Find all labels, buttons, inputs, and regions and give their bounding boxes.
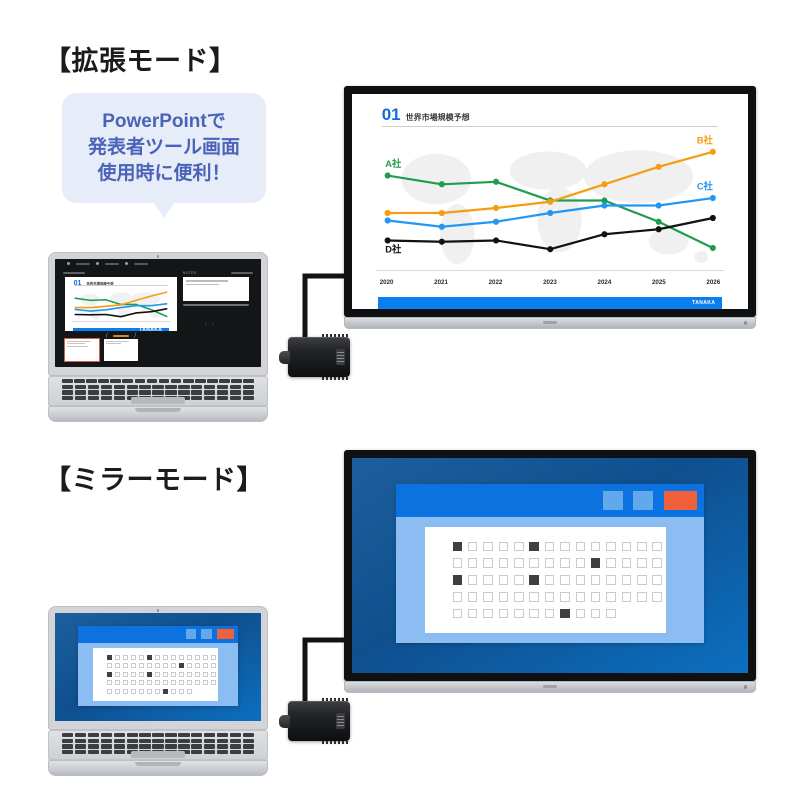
keyboard-key[interactable] [74, 379, 85, 383]
laptop-screen-mirror [55, 613, 261, 721]
cell-empty [591, 542, 600, 551]
monitor-notch [543, 321, 557, 324]
cell-empty [155, 680, 160, 685]
keyboard-key[interactable] [139, 733, 150, 737]
thumb-line [67, 341, 91, 342]
callout-line-2: 発表者ツール画面 [88, 136, 240, 160]
cell-filled [107, 655, 112, 660]
line-chart-svg-mini [72, 287, 170, 323]
laptop-keyboard[interactable] [48, 730, 268, 760]
keyboard-key[interactable] [159, 379, 170, 383]
keyboard-key[interactable] [86, 379, 97, 383]
keyboard-key[interactable] [230, 739, 241, 743]
keyboard-key[interactable] [191, 390, 202, 394]
keyboard-key[interactable] [204, 733, 215, 737]
keyboard-key[interactable] [231, 379, 242, 383]
keyboard-key[interactable] [62, 744, 73, 748]
keyboard-key[interactable] [217, 750, 228, 754]
cell-empty [529, 592, 538, 601]
keyboard-key[interactable] [243, 385, 254, 389]
keyboard-key[interactable] [88, 385, 99, 389]
slide-title: 世界市場規模予想 [406, 112, 470, 123]
keyboard-key[interactable] [101, 385, 112, 389]
keyboard-key[interactable] [62, 739, 73, 743]
cell-filled [453, 575, 462, 584]
keyboard-key[interactable] [75, 739, 86, 743]
usb-c-connector [279, 351, 290, 364]
cell-empty [606, 575, 615, 584]
data-point-A社-2026 [166, 315, 167, 316]
keyboard-key[interactable] [230, 396, 241, 400]
data-point-B社-2022 [105, 305, 106, 306]
mirror-mode-heading: 【ミラーモード】 [44, 458, 264, 497]
note-line [186, 280, 228, 281]
keyboard-key[interactable] [101, 396, 112, 400]
application-window[interactable] [78, 626, 239, 706]
cell-empty [576, 575, 585, 584]
laptop-keyboard[interactable] [48, 376, 268, 406]
keyboard-key[interactable] [204, 385, 215, 389]
cell-empty [468, 558, 477, 567]
keyboard-key[interactable] [62, 750, 73, 754]
keyboard-key[interactable] [195, 379, 206, 383]
adapter-port-teeth-top [322, 698, 348, 701]
data-point-D社-2025 [655, 226, 661, 232]
cell-empty [203, 672, 208, 677]
cell-empty [453, 592, 462, 601]
slide-brand: TANAKA [692, 300, 715, 306]
chart-plot-area-mini [72, 287, 170, 323]
cell-empty [195, 663, 200, 668]
keyboard-key[interactable] [101, 390, 112, 394]
keyboard-key[interactable] [183, 379, 194, 383]
keyboard-key[interactable] [204, 744, 215, 748]
cell-empty [545, 558, 554, 567]
cell-empty [622, 558, 631, 567]
keyboard-key[interactable] [139, 744, 150, 748]
keyboard-key[interactable] [217, 385, 228, 389]
cell-empty [139, 689, 144, 694]
keyboard-key[interactable] [75, 750, 86, 754]
keyboard-key[interactable] [98, 379, 109, 383]
keyboard-key[interactable] [191, 733, 202, 737]
keyboard-key[interactable] [139, 385, 150, 389]
cell-empty [187, 655, 192, 660]
minimize-button-icon[interactable] [186, 629, 196, 639]
cell-filled [453, 542, 462, 551]
cell-empty [187, 680, 192, 685]
cell-empty [499, 609, 508, 618]
cell-empty [163, 672, 168, 677]
presenter-slide-thumbnails[interactable] [65, 339, 138, 361]
cell-empty [163, 663, 168, 668]
keyboard-key[interactable] [75, 744, 86, 748]
keyboard-key[interactable] [230, 744, 241, 748]
cell-empty [155, 672, 160, 677]
cell-empty [123, 672, 128, 677]
cell-empty [179, 655, 184, 660]
maximize-button-icon[interactable] [633, 491, 653, 510]
keyboard-key[interactable] [217, 396, 228, 400]
grille-line [337, 725, 343, 726]
monitor-stand-foot [344, 681, 756, 693]
keyboard-key[interactable] [147, 379, 158, 383]
keyboard-key[interactable] [62, 379, 73, 383]
presenter-subbar[interactable] [63, 271, 253, 275]
cell-filled [529, 542, 538, 551]
slide-thumbnail-1[interactable] [65, 339, 99, 361]
grille-line [337, 722, 343, 723]
keyboard-key[interactable] [165, 390, 176, 394]
keyboard-key[interactable] [75, 385, 86, 389]
document-row [107, 689, 203, 694]
presenter-toolbar[interactable] [55, 259, 261, 269]
cell-empty [187, 672, 192, 677]
data-point-B社-2021 [439, 209, 445, 215]
cell-empty [131, 663, 136, 668]
document-row [107, 663, 203, 668]
monitor-screen-mirror [352, 458, 748, 673]
data-point-B社-2023 [547, 198, 553, 204]
keyboard-key[interactable] [191, 385, 202, 389]
series-label-A社: A社 [385, 158, 402, 170]
callout-bubble: PowerPointで 発表者ツール画面 使用時に便利！ [62, 93, 266, 203]
data-point-C社-2022 [493, 218, 499, 224]
cell-empty [195, 655, 200, 660]
keyboard-key[interactable] [243, 390, 254, 394]
keyboard-key[interactable] [230, 733, 241, 737]
keyboard-key[interactable] [122, 379, 133, 383]
keyboard-key[interactable] [165, 385, 176, 389]
keyboard-key[interactable] [88, 744, 99, 748]
cell-empty [637, 542, 646, 551]
adapter-body [288, 701, 350, 741]
cell-empty [652, 558, 661, 567]
monitor-bezel [344, 450, 756, 681]
cell-empty [139, 655, 144, 660]
keyboard-key[interactable] [88, 396, 99, 400]
data-point-D社-2020 [75, 314, 76, 315]
adapter-port-teeth-top [322, 334, 348, 337]
keyboard-key[interactable] [243, 744, 254, 748]
keyboard-key[interactable] [152, 744, 163, 748]
keyboard-key[interactable] [152, 733, 163, 737]
laptop-extend-mode: 01 世界市場規模予想 [48, 252, 268, 422]
cell-empty [576, 592, 585, 601]
cell-filled [560, 609, 569, 618]
cell-empty [155, 655, 160, 660]
keyboard-key[interactable] [204, 390, 215, 394]
maximize-button-icon[interactable] [201, 629, 211, 639]
keyboard-key[interactable] [230, 385, 241, 389]
cell-empty [147, 680, 152, 685]
cell-empty [652, 592, 661, 601]
usb-c-adapter-extend [288, 337, 350, 377]
cell-empty [115, 680, 120, 685]
minimize-button-icon[interactable] [603, 491, 623, 510]
cell-empty [163, 680, 168, 685]
cell-empty [576, 609, 585, 618]
cell-empty [187, 689, 192, 694]
keyboard-key[interactable] [75, 390, 86, 394]
keyboard-key[interactable] [114, 739, 125, 743]
cell-empty [139, 663, 144, 668]
monitor-bezel: 01 世界市場規模予想 [344, 86, 756, 317]
data-point-A社-2020 [384, 172, 390, 178]
chart-x-axis-labels: 2020202120222023202420252026 [376, 279, 724, 286]
window-title-bar[interactable] [396, 484, 705, 517]
cell-empty [195, 672, 200, 677]
keyboard-key[interactable] [178, 733, 189, 737]
cell-empty [545, 592, 554, 601]
x-tick-2022: 2022 [489, 279, 503, 286]
keyboard-key[interactable] [178, 385, 189, 389]
data-point-C社-2026 [710, 194, 716, 200]
cell-empty [591, 592, 600, 601]
document-row [453, 609, 639, 618]
data-point-B社-2020 [384, 209, 390, 215]
data-point-D社-2022 [105, 314, 106, 315]
keyboard-key[interactable] [127, 385, 138, 389]
presenter-notes-heading: NOTES [183, 271, 197, 275]
keyboard-key[interactable] [243, 396, 254, 400]
cell-empty [622, 542, 631, 551]
keyboard-key[interactable] [171, 379, 182, 383]
chart-plot-area: A社B社C社D社 [376, 131, 724, 275]
cell-empty [123, 663, 128, 668]
cell-empty [591, 609, 600, 618]
cell-empty [468, 609, 477, 618]
slide-number: 01 [382, 106, 401, 123]
keyboard-key[interactable] [243, 750, 254, 754]
cell-empty [576, 542, 585, 551]
cell-empty [483, 542, 492, 551]
keyboard-key[interactable] [217, 739, 228, 743]
keyboard-key[interactable] [88, 390, 99, 394]
keyboard-key[interactable] [75, 396, 86, 400]
keyboard-key[interactable] [139, 739, 150, 743]
data-point-A社-2025 [655, 218, 661, 224]
keyboard-key[interactable] [219, 379, 230, 383]
document-canvas [425, 527, 666, 633]
keyboard-key[interactable] [88, 750, 99, 754]
monitor-notch [543, 685, 557, 688]
desktop-wallpaper [352, 458, 748, 673]
keyboard-row [62, 379, 254, 383]
keyboard-key[interactable] [178, 390, 189, 394]
keyboard-key[interactable] [101, 733, 112, 737]
grille-line [337, 352, 343, 353]
cell-empty [514, 575, 523, 584]
slide-progress-bar[interactable] [113, 335, 129, 337]
keyboard-key[interactable] [191, 744, 202, 748]
cell-empty [560, 592, 569, 601]
keyboard-key[interactable] [243, 733, 254, 737]
x-tick-2025: 2025 [652, 279, 666, 286]
slide-chart-mini: 01 世界市場規模予想 [65, 277, 176, 331]
keyboard-key[interactable] [191, 739, 202, 743]
chart-axis-rule [376, 270, 724, 271]
cell-empty [155, 663, 160, 668]
keyboard-key[interactable] [62, 390, 73, 394]
keyboard-key[interactable] [114, 733, 125, 737]
keyboard-key[interactable] [114, 385, 125, 389]
laptop-mirror-mode [48, 606, 268, 776]
document-row [453, 592, 639, 601]
keyboard-key[interactable] [127, 744, 138, 748]
laptop-base [48, 760, 268, 776]
cell-empty [107, 680, 112, 685]
keyboard-key[interactable] [114, 396, 125, 400]
data-point-A社-2024 [136, 304, 137, 305]
keyboard-key[interactable] [165, 744, 176, 748]
cell-empty [606, 558, 615, 567]
data-point-A社-2020 [75, 297, 76, 298]
thumb-line [106, 343, 121, 344]
keyboard-key[interactable] [127, 739, 138, 743]
cell-empty [591, 575, 600, 584]
close-button-icon[interactable] [664, 491, 697, 510]
adapter-body [288, 337, 350, 377]
keyboard-key[interactable] [243, 739, 254, 743]
chart-axis-rule [72, 321, 170, 322]
document-row [107, 672, 203, 677]
keyboard-key[interactable] [135, 379, 146, 383]
keyboard-key[interactable] [217, 744, 228, 748]
keyboard-key[interactable] [88, 739, 99, 743]
data-point-B社-2026 [710, 148, 716, 154]
keyboard-key[interactable] [101, 750, 112, 754]
data-point-D社-2020 [384, 237, 390, 243]
cell-empty [483, 558, 492, 567]
cell-filled [591, 558, 600, 567]
cell-empty [529, 558, 538, 567]
data-point-A社-2021 [90, 299, 91, 300]
cell-empty [139, 680, 144, 685]
cell-empty [468, 575, 477, 584]
adapter-port-teeth-bottom [322, 741, 348, 744]
data-point-D社-2026 [166, 308, 167, 309]
keyboard-key[interactable] [114, 744, 125, 748]
keyboard-key[interactable] [127, 733, 138, 737]
webcam-icon [157, 609, 160, 612]
data-point-B社-2025 [655, 163, 661, 169]
keyboard-key[interactable] [178, 744, 189, 748]
cell-empty [514, 558, 523, 567]
keyboard-key[interactable] [62, 385, 73, 389]
cell-empty [107, 663, 112, 668]
keyboard-key[interactable] [88, 733, 99, 737]
cell-empty [171, 672, 176, 677]
cell-empty [211, 663, 216, 668]
keyboard-key[interactable] [114, 750, 125, 754]
application-window[interactable] [396, 484, 705, 643]
keyboard-key[interactable] [230, 390, 241, 394]
laptop-trackpad[interactable] [131, 751, 185, 758]
keyboard-key[interactable] [230, 750, 241, 754]
keyboard-key[interactable] [243, 379, 254, 383]
data-point-C社-2023 [547, 209, 553, 215]
keyboard-key[interactable] [101, 744, 112, 748]
keyboard-key[interactable] [152, 390, 163, 394]
cell-empty [545, 609, 554, 618]
keyboard-key[interactable] [191, 750, 202, 754]
data-point-B社-2020 [75, 307, 76, 308]
cell-empty [514, 542, 523, 551]
cell-empty [115, 689, 120, 694]
cell-empty [203, 663, 208, 668]
cell-filled [163, 689, 168, 694]
cell-empty [560, 542, 569, 551]
document-row [453, 575, 639, 584]
slide-divider [382, 126, 719, 127]
keyboard-key[interactable] [204, 396, 215, 400]
keyboard-key[interactable] [114, 390, 125, 394]
keyboard-key[interactable] [165, 733, 176, 737]
subbar-left-label [63, 272, 85, 274]
external-monitor-extend: 01 世界市場規模予想 [344, 86, 756, 329]
keyboard-key[interactable] [217, 390, 228, 394]
toolbar-dot-icon [125, 262, 128, 265]
cell-empty [171, 689, 176, 694]
cell-empty [163, 655, 168, 660]
desktop-wallpaper [55, 613, 261, 721]
data-point-A社-2026 [710, 244, 716, 250]
cell-empty [147, 663, 152, 668]
thumb-line [67, 343, 85, 344]
keyboard-key[interactable] [152, 739, 163, 743]
cell-empty [637, 592, 646, 601]
keyboard-key[interactable] [62, 733, 73, 737]
monitor-power-led-icon [744, 321, 748, 325]
toolbar-dot-icon [96, 262, 99, 265]
toolbar-label-b [105, 263, 119, 265]
keyboard-key[interactable] [191, 396, 202, 400]
keyboard-key[interactable] [110, 379, 121, 383]
keyboard-key[interactable] [75, 733, 86, 737]
laptop-trackpad[interactable] [131, 397, 185, 404]
slide-thumbnail-2[interactable] [104, 339, 138, 361]
keyboard-key[interactable] [217, 733, 228, 737]
window-title-bar[interactable] [78, 626, 239, 643]
keyboard-key[interactable] [207, 379, 218, 383]
close-button-icon[interactable] [217, 629, 234, 639]
cell-empty [529, 609, 538, 618]
keyboard-row [62, 739, 254, 743]
laptop-lid [48, 606, 268, 730]
thumb-line [67, 346, 88, 347]
keyboard-key[interactable] [139, 390, 150, 394]
cell-empty [483, 609, 492, 618]
keyboard-key[interactable] [152, 385, 163, 389]
data-point-B社-2024 [601, 181, 607, 187]
data-point-D社-2025 [151, 311, 152, 312]
keyboard-key[interactable] [62, 396, 73, 400]
cell-empty [453, 558, 462, 567]
laptop-base [48, 406, 268, 422]
cell-empty [499, 558, 508, 567]
keyboard-key[interactable] [204, 739, 215, 743]
cell-empty [115, 672, 120, 677]
page-root: 【拡張モード】 PowerPointで 発表者ツール画面 使用時に便利！ [0, 0, 800, 800]
keyboard-key[interactable] [127, 390, 138, 394]
thumb-line [106, 341, 129, 342]
keyboard-key[interactable] [204, 750, 215, 754]
keyboard-key[interactable] [165, 739, 176, 743]
grille-line [337, 355, 343, 356]
keyboard-key[interactable] [101, 739, 112, 743]
keyboard-key[interactable] [178, 739, 189, 743]
